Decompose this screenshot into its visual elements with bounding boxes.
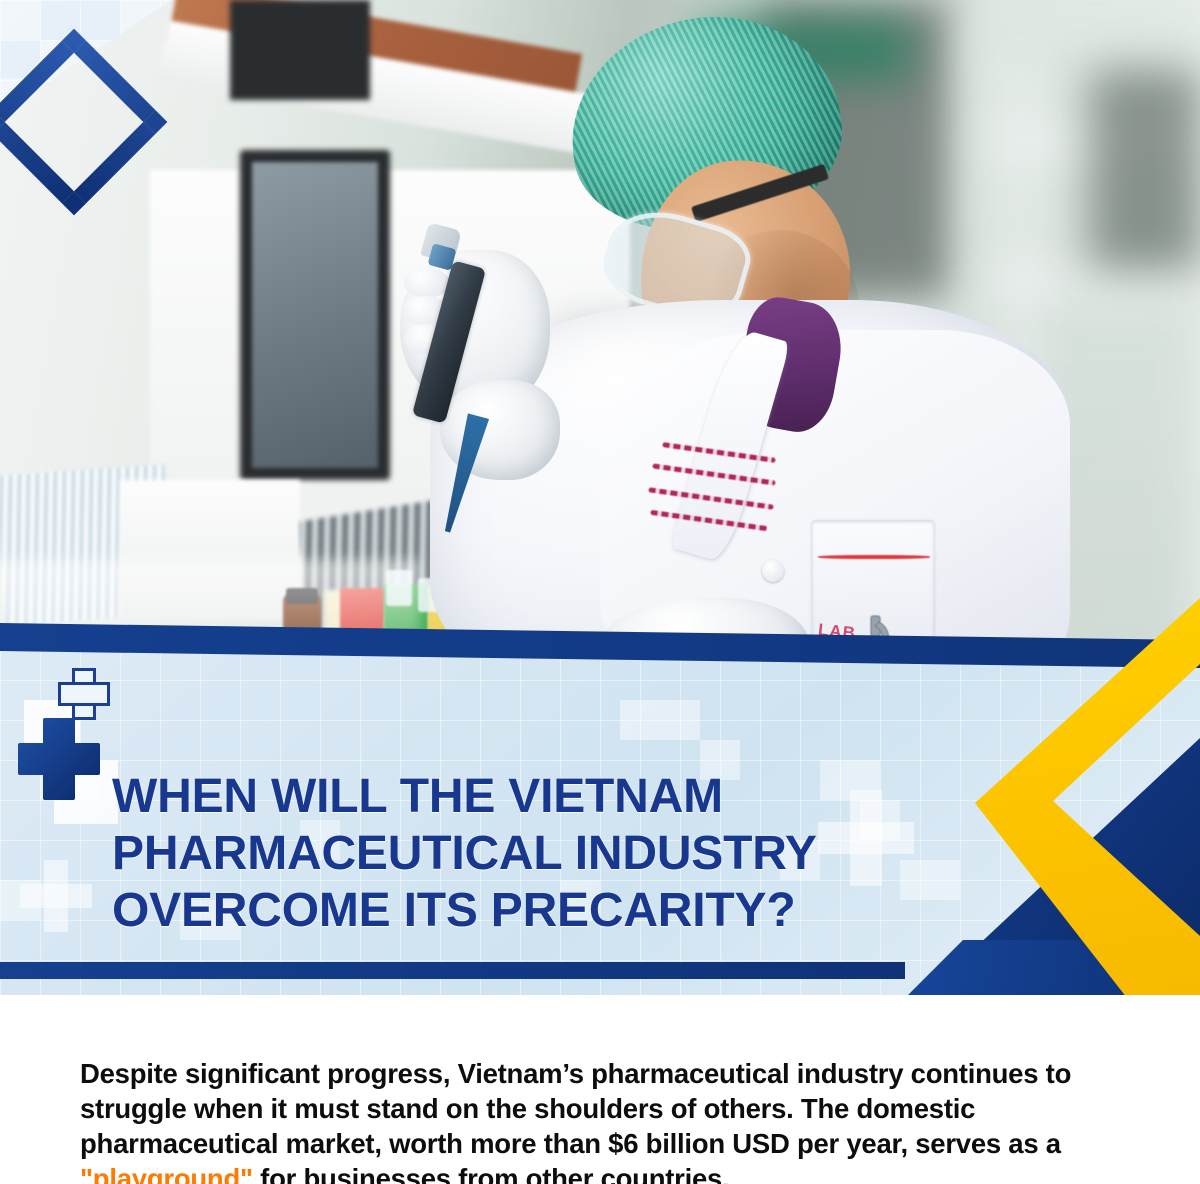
headline-underline-bar: [0, 962, 905, 979]
lab-technician-photo: LAB: [0, 0, 1200, 700]
infographic-poster: LAB: [0, 0, 1200, 1184]
photo-bg-shape: [1090, 70, 1200, 270]
photo-monitor-top: [230, 0, 370, 100]
body-segment-3: for businesses from other countries.: [253, 1163, 730, 1184]
body-paragraph: Despite significant progress, Vietnam’s …: [80, 1056, 1125, 1184]
body-segment-1: Despite significant progress, Vietnam’s …: [80, 1058, 1071, 1159]
photo-coat-button: [762, 560, 784, 582]
page-title: WHEN WILL THE VIETNAM PHARMACEUTICAL IND…: [112, 768, 992, 939]
headline-line-2: PHARMACEUTICAL INDUSTRY: [112, 825, 992, 882]
photo-finger: [404, 268, 450, 298]
photo-pocket-trim: [818, 555, 930, 559]
hero-section: LAB: [0, 0, 1200, 995]
headline-area: WHEN WILL THE VIETNAM PHARMACEUTICAL IND…: [0, 650, 1010, 970]
body-highlight-playground: "playground": [80, 1163, 253, 1184]
headline-line-3: OVERCOME ITS PRECARITY?: [112, 882, 992, 939]
mosaic-block: [0, 0, 40, 40]
headline-line-1: WHEN WILL THE VIETNAM: [112, 768, 992, 825]
body-copy-section: Despite significant progress, Vietnam’s …: [0, 1000, 1200, 1184]
photo-monitor-screen: [252, 162, 378, 468]
